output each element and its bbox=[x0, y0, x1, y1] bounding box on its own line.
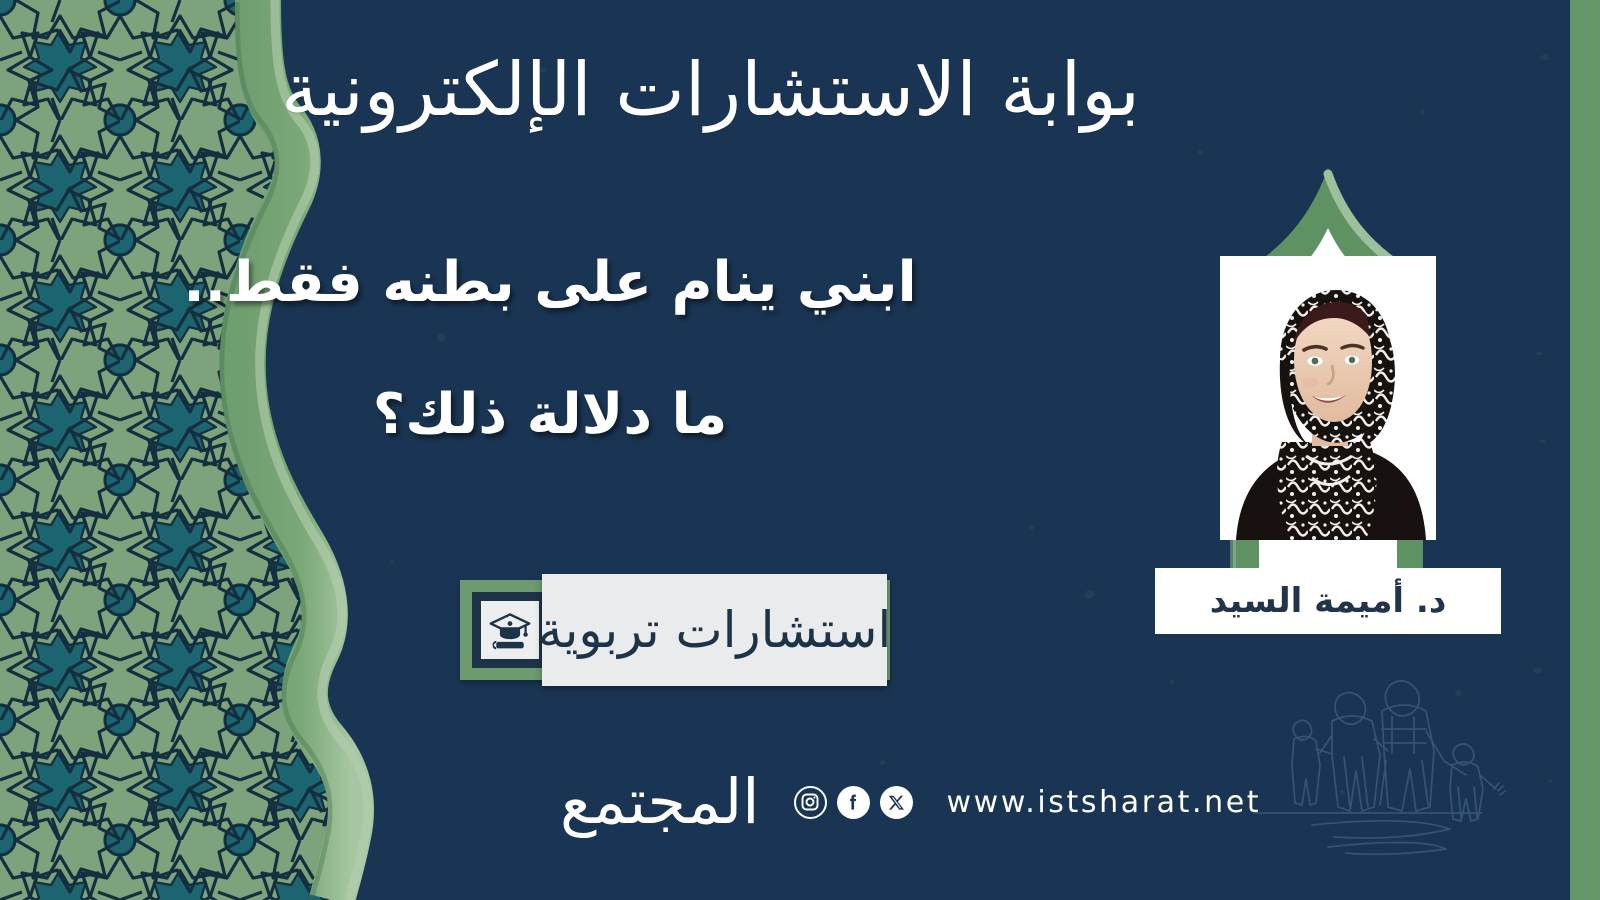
facebook-icon[interactable] bbox=[837, 786, 870, 819]
expert-photo bbox=[1220, 256, 1436, 540]
expert-nameplate: د. أميمة السيد bbox=[1155, 568, 1501, 634]
family-line-art-silhouette-icon bbox=[1250, 665, 1570, 895]
expert-portrait-card: د. أميمة السيد bbox=[1155, 168, 1501, 634]
right-edge-strip bbox=[1570, 0, 1600, 900]
question-line-1: ابني ينام على بطنه فقط.. bbox=[120, 252, 980, 314]
question-line-2: ما دلالة ذلك؟ bbox=[120, 384, 980, 446]
website-url[interactable]: www.istsharat.net bbox=[947, 785, 1262, 820]
category-plaque: استشارات تربوية bbox=[450, 574, 890, 686]
header-calligraphy: بوابة الاستشارات الإلكترونية bbox=[460, 44, 1140, 137]
footer-bar: المجتمع www.istsharat.net bbox=[560, 752, 1261, 852]
x-twitter-icon[interactable] bbox=[880, 786, 913, 819]
poster-canvas: بوابة الاستشارات الإلكترونية ابني ينام ع… bbox=[0, 0, 1600, 900]
graduation-cap-book-icon bbox=[481, 601, 539, 659]
plaque-label-panel: استشارات تربوية bbox=[542, 574, 887, 686]
social-links bbox=[794, 786, 913, 819]
instagram-icon[interactable] bbox=[794, 786, 827, 819]
question-block: ابني ينام على بطنه فقط.. ما دلالة ذلك؟ bbox=[120, 252, 980, 445]
expert-name: د. أميمة السيد bbox=[1210, 581, 1447, 621]
plaque-label-text: استشارات تربوية bbox=[538, 605, 892, 655]
plaque-icon-frame bbox=[472, 592, 548, 668]
brand-logo-calligraphy: المجتمع bbox=[560, 771, 760, 833]
